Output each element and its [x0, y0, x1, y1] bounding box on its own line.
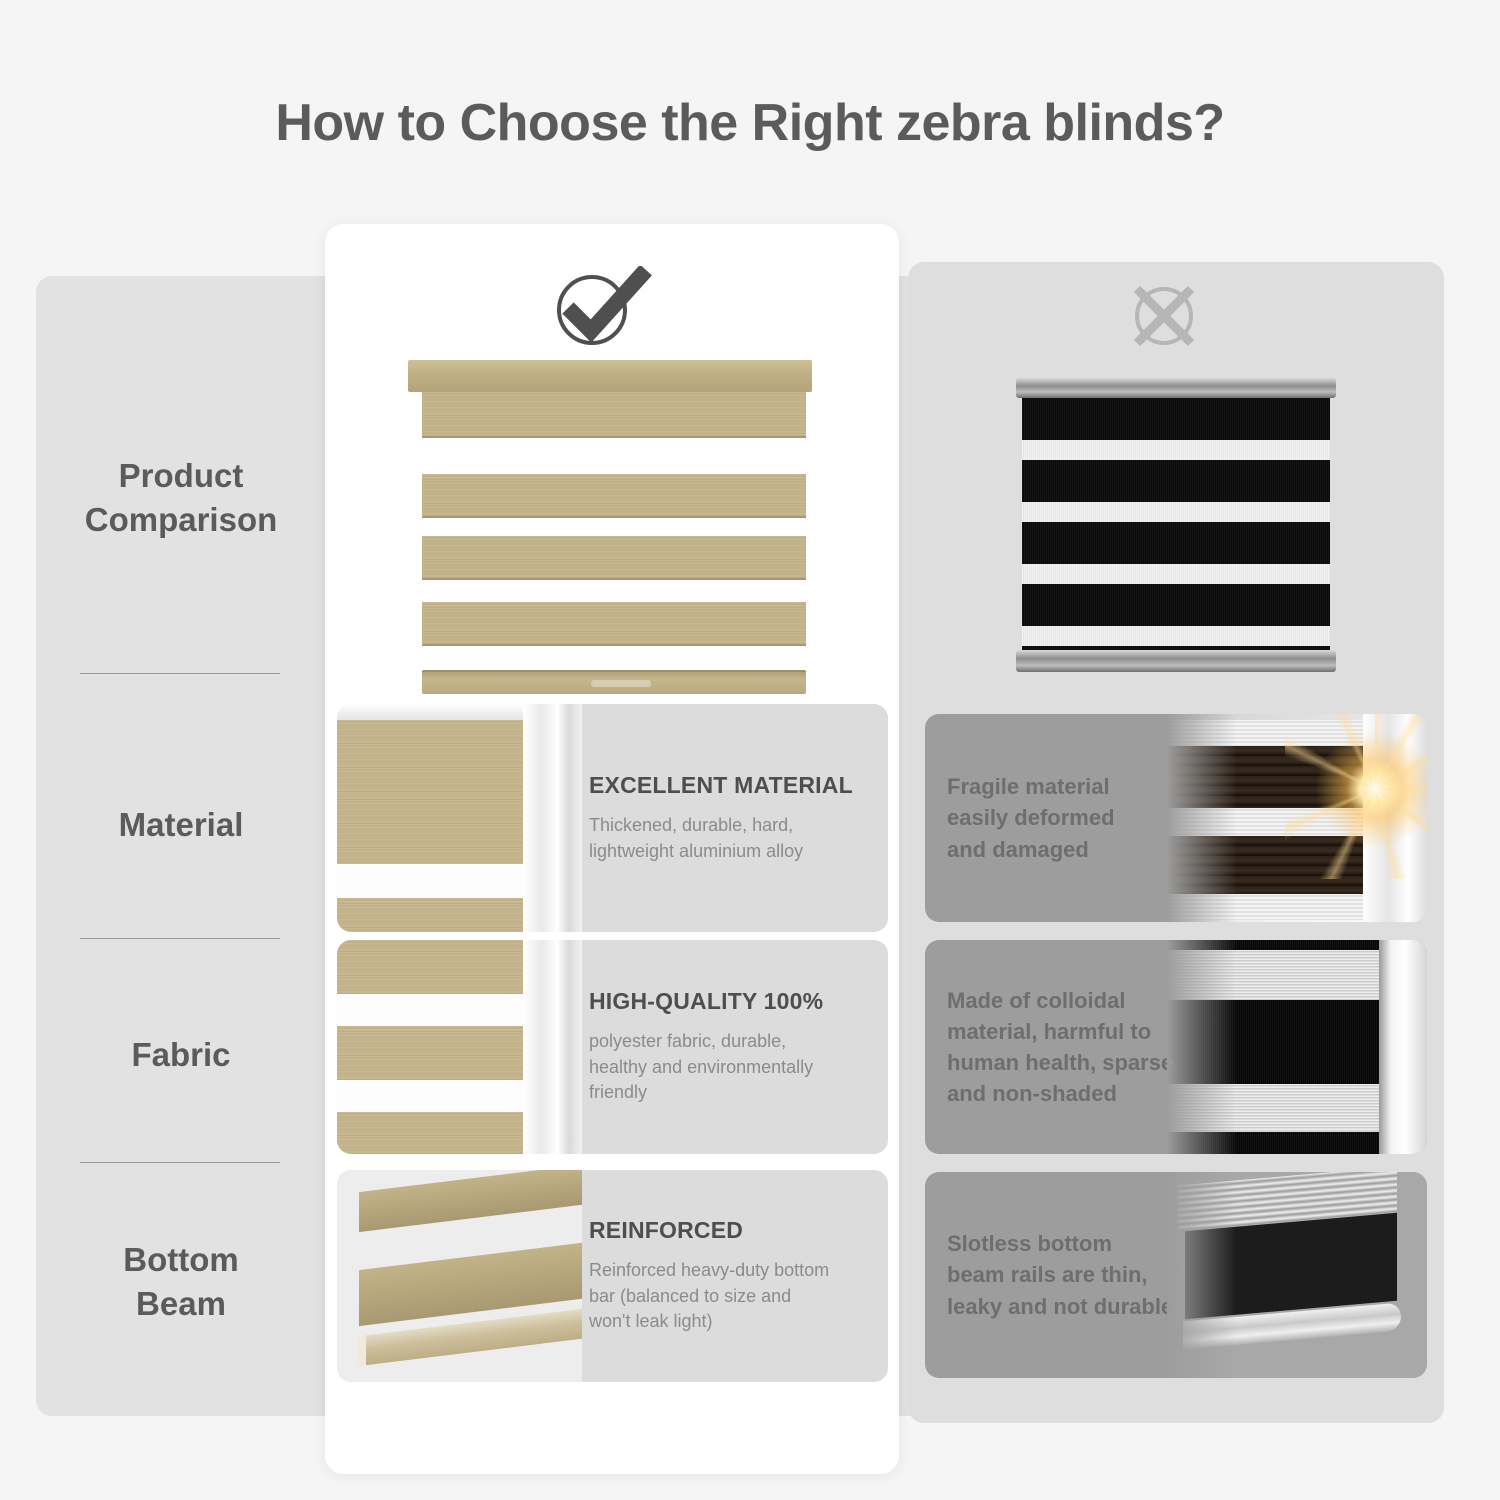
neg-line: beam rails are thin, — [947, 1259, 1173, 1290]
good-feature-fabric-desc: polyester fabric, durable, healthy and e… — [589, 1029, 866, 1106]
beige-blind-headrail — [408, 360, 812, 392]
row-label-bottom-beam: Bottom Beam — [36, 1238, 326, 1325]
light-leak-flare — [1315, 729, 1427, 849]
neg-line: and non-shaded — [947, 1078, 1173, 1109]
black-blind-headrail — [1016, 378, 1336, 398]
bad-feature-bottom-beam: Slotless bottom beam rails are thin, lea… — [925, 1172, 1427, 1378]
cross-circle-icon — [1128, 282, 1200, 355]
row-divider-1 — [80, 673, 280, 674]
desc-line: Reinforced heavy-duty bottom — [589, 1258, 866, 1284]
good-feature-bottom-beam: REINFORCED Reinforced heavy-duty bottom … — [337, 1170, 888, 1382]
row-label-line1: Material — [36, 803, 326, 847]
desc-line: friendly — [589, 1080, 866, 1106]
neg-line: leaky and not durable — [947, 1291, 1173, 1322]
good-feature-bottom-beam-image — [337, 1170, 582, 1382]
row-label-column: Product Comparison Material Fabric Botto… — [36, 276, 326, 1416]
row-label-line2: Beam — [36, 1282, 326, 1326]
beige-blind-bottom-bar — [422, 670, 806, 694]
neg-line: human health, sparse — [947, 1047, 1173, 1078]
neg-line: and damaged — [947, 834, 1115, 865]
check-circle-icon — [548, 266, 654, 353]
good-feature-material-text: EXCELLENT MATERIAL Thickened, durable, h… — [589, 704, 888, 932]
thin-dark-band — [1185, 1213, 1397, 1320]
good-feature-fabric-title: HIGH-QUALITY 100% — [589, 988, 866, 1015]
bad-hero-image-black-zebra-blind — [1016, 378, 1336, 670]
beige-blind-band — [422, 392, 806, 438]
bad-feature-fabric: Made of colloidal material, harmful to h… — [925, 940, 1427, 1154]
good-feature-bottom-beam-desc: Reinforced heavy-duty bottom bar (balanc… — [589, 1258, 866, 1335]
row-label-line1: Bottom — [36, 1238, 326, 1282]
row-label-line1: Fabric — [36, 1033, 326, 1077]
neg-line: Made of colloidal — [947, 985, 1173, 1016]
bad-feature-bottom-beam-image — [1167, 1172, 1427, 1378]
neg-line: easily deformed — [947, 802, 1115, 833]
row-label-line1: Product — [36, 454, 326, 498]
desc-line: won't leak light) — [589, 1309, 866, 1335]
good-feature-bottom-beam-title: REINFORCED — [589, 1217, 866, 1244]
neg-line: Fragile material — [947, 771, 1115, 802]
neg-line: material, harmful to — [947, 1016, 1173, 1047]
black-blind-bottom-rail — [1016, 650, 1336, 672]
desc-line: lightweight aluminium alloy — [589, 839, 866, 865]
bad-feature-material: Fragile material easily deformed and dam… — [925, 714, 1427, 922]
page-title: How to Choose the Right zebra blinds? — [0, 93, 1500, 153]
row-label-line2: Comparison — [36, 498, 326, 542]
good-feature-fabric-image — [337, 940, 582, 1154]
desc-line: bar (balanced to size and — [589, 1284, 866, 1310]
good-feature-material-image — [337, 704, 582, 932]
black-blind-fabric — [1022, 398, 1330, 650]
neg-line: Slotless bottom — [947, 1228, 1173, 1259]
bad-feature-material-image — [1167, 714, 1427, 922]
good-hero-image-beige-zebra-blind — [408, 360, 812, 696]
good-feature-material-desc: Thickened, durable, hard, lightweight al… — [589, 813, 866, 864]
beige-blind-band — [422, 602, 806, 646]
bad-feature-fabric-image — [1167, 940, 1427, 1154]
good-feature-material: EXCELLENT MATERIAL Thickened, durable, h… — [337, 704, 888, 932]
beige-blind-band — [422, 474, 806, 518]
row-divider-3 — [80, 1162, 280, 1163]
good-feature-bottom-beam-text: REINFORCED Reinforced heavy-duty bottom … — [589, 1170, 888, 1382]
desc-line: healthy and environmentally — [589, 1055, 866, 1081]
desc-line: polyester fabric, durable, — [589, 1029, 866, 1055]
row-divider-2 — [80, 938, 280, 939]
good-feature-material-title: EXCELLENT MATERIAL — [589, 772, 866, 799]
row-label-product-comparison: Product Comparison — [36, 454, 326, 541]
row-label-fabric: Fabric — [36, 1033, 326, 1077]
beige-blind-band — [422, 536, 806, 580]
desc-line: Thickened, durable, hard, — [589, 813, 866, 839]
good-feature-fabric: HIGH-QUALITY 100% polyester fabric, dura… — [337, 940, 888, 1154]
good-feature-fabric-text: HIGH-QUALITY 100% polyester fabric, dura… — [589, 940, 888, 1154]
row-label-material: Material — [36, 803, 326, 847]
bottom-beam-slat — [359, 1170, 582, 1232]
